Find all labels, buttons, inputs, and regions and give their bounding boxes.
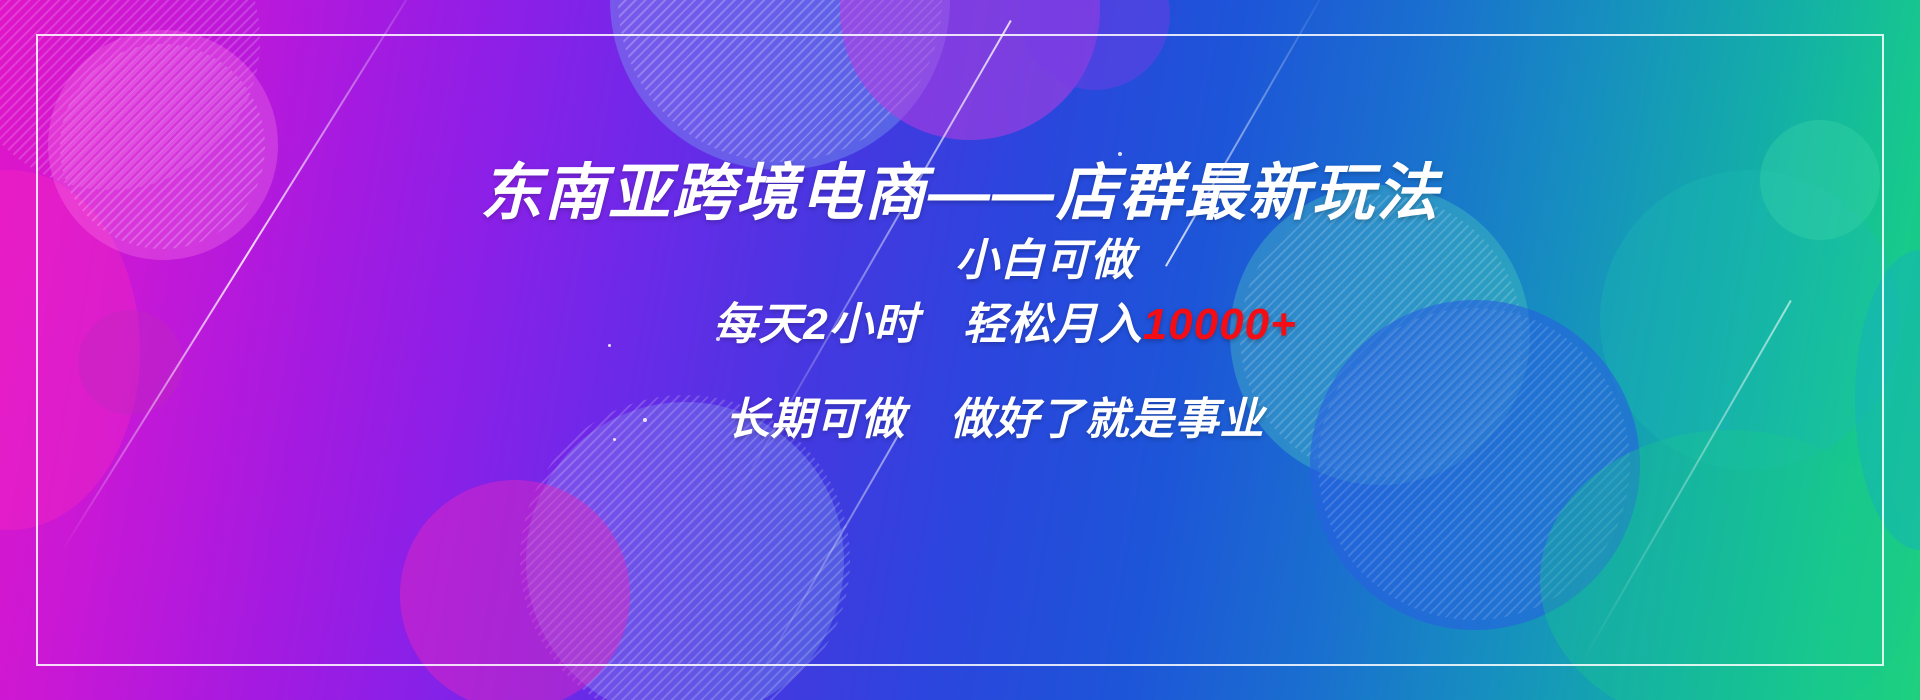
- monthly-income-text: 轻松月入: [963, 300, 1143, 349]
- income-amount-highlight: 10000+: [1143, 300, 1297, 349]
- banner-subtitle-line-3: 长期可做做好了就是事业: [726, 383, 1265, 447]
- long-term-text: 长期可做: [726, 395, 906, 444]
- banner-copy: 东南亚跨境电商——店群最新玩法 小白可做 每天2小时轻松月入10000+ 长期可…: [0, 0, 1920, 700]
- career-text: 做好了就是事业: [950, 395, 1265, 444]
- banner-subtitle-line-1: 小白可做: [955, 224, 1135, 288]
- banner-title: 东南亚跨境电商——店群最新玩法: [480, 142, 1440, 232]
- promo-banner: 东南亚跨境电商——店群最新玩法 小白可做 每天2小时轻松月入10000+ 长期可…: [0, 0, 1920, 700]
- banner-subtitle-line-2: 每天2小时轻松月入10000+: [713, 288, 1297, 352]
- daily-hours-text: 每天2小时: [713, 300, 918, 349]
